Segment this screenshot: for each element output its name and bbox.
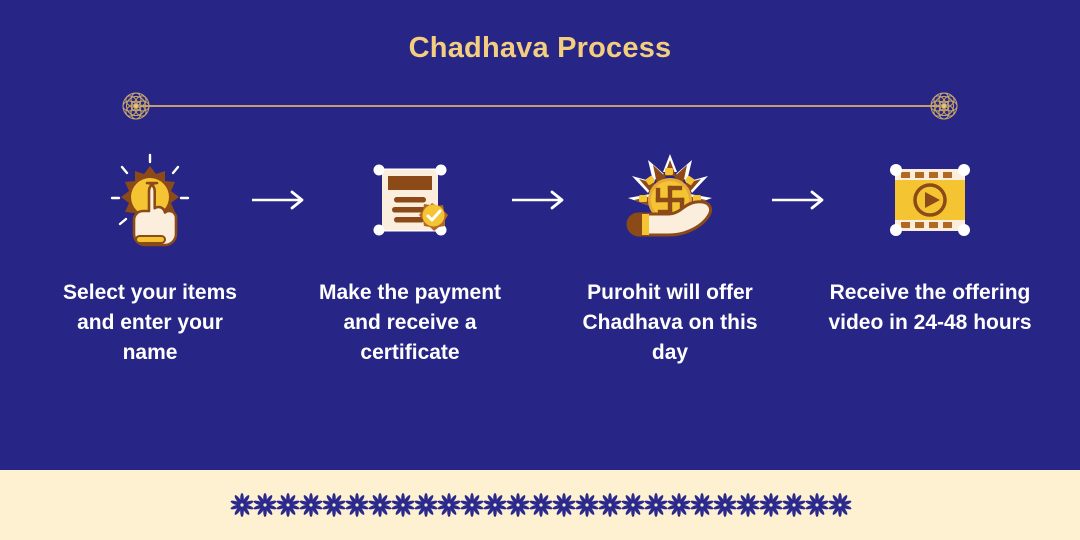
- mandala-rosette-icon: [118, 88, 154, 124]
- flower-asterisk-icon: [713, 490, 737, 520]
- flower-asterisk-icon: [759, 490, 783, 520]
- flower-asterisk-icon: [598, 490, 622, 520]
- process-step-1[interactable]: Select your items and enter your name: [50, 150, 250, 368]
- flower-asterisk-icon: [391, 490, 415, 520]
- process-step-2[interactable]: Make the payment and receive a certifica…: [310, 150, 510, 368]
- flower-asterisk-icon: [299, 490, 323, 520]
- divider-line: [140, 105, 940, 107]
- flower-asterisk-icon: [437, 490, 461, 520]
- process-step-label: Purohit will offer Chadhava on this day: [567, 278, 773, 368]
- hand-offering-swastika-icon: [620, 150, 720, 250]
- flower-asterisk-icon: [322, 490, 346, 520]
- flower-asterisk-icon: [667, 490, 691, 520]
- certificate-seal-icon: [360, 150, 460, 250]
- footer-band: [0, 470, 1080, 540]
- flower-asterisk-icon: [276, 490, 300, 520]
- process-step-label: Select your items and enter your name: [47, 278, 253, 368]
- film-strip-play-video-icon: [880, 150, 980, 250]
- page-title: Chadhava Process: [0, 32, 1080, 65]
- process-step-4[interactable]: Receive the offering video in 24-48 hour…: [830, 150, 1030, 338]
- flower-asterisk-icon: [483, 490, 507, 520]
- flower-asterisk-icon: [529, 490, 553, 520]
- footer-flower-pattern: [230, 490, 851, 520]
- arrow-right-icon: [510, 150, 570, 250]
- flower-asterisk-icon: [621, 490, 645, 520]
- flower-asterisk-icon: [782, 490, 806, 520]
- mandala-rosette-icon: [926, 88, 962, 124]
- flower-asterisk-icon: [230, 490, 254, 520]
- process-step-label: Receive the offering video in 24-48 hour…: [827, 278, 1033, 338]
- flower-asterisk-icon: [552, 490, 576, 520]
- process-steps: Select your items and enter your name: [0, 150, 1080, 368]
- process-step-3[interactable]: Purohit will offer Chadhava on this day: [570, 150, 770, 368]
- process-step-label: Make the payment and receive a certifica…: [307, 278, 513, 368]
- flower-asterisk-icon: [690, 490, 714, 520]
- flower-asterisk-icon: [253, 490, 277, 520]
- flower-asterisk-icon: [575, 490, 599, 520]
- arrow-right-icon: [770, 150, 830, 250]
- flower-asterisk-icon: [828, 490, 852, 520]
- flower-asterisk-icon: [506, 490, 530, 520]
- hand-tap-click-icon: [100, 150, 200, 250]
- flower-asterisk-icon: [345, 490, 369, 520]
- flower-asterisk-icon: [460, 490, 484, 520]
- flower-asterisk-icon: [644, 490, 668, 520]
- flower-asterisk-icon: [736, 490, 760, 520]
- chadhava-process-infographic: Chadhava Process: [0, 0, 1080, 540]
- flower-asterisk-icon: [368, 490, 392, 520]
- ornamental-divider: [118, 88, 962, 124]
- flower-asterisk-icon: [414, 490, 438, 520]
- arrow-right-icon: [250, 150, 310, 250]
- flower-asterisk-icon: [805, 490, 829, 520]
